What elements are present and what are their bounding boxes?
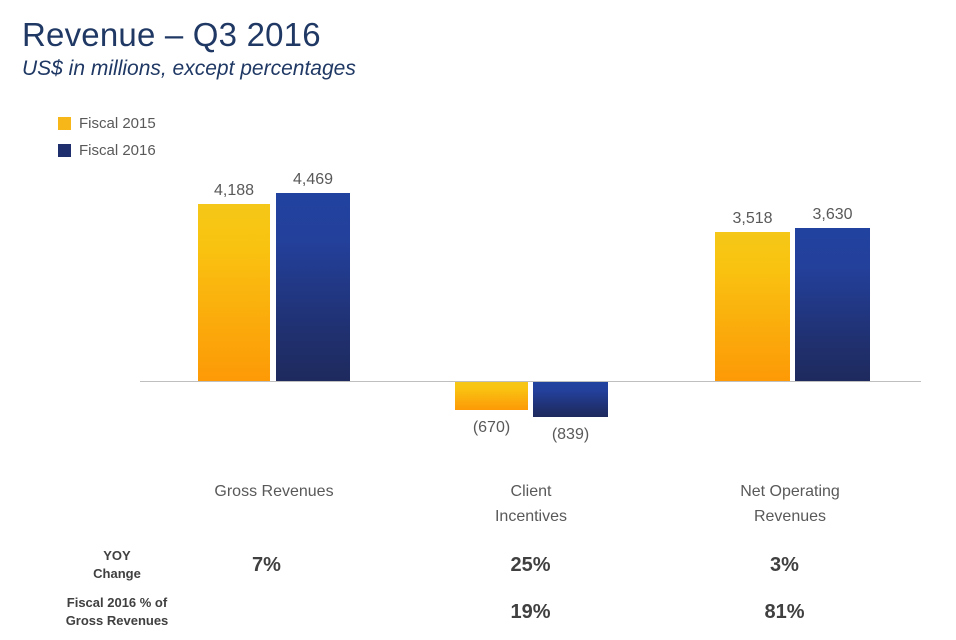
table-row-label-fiscal-2016-pct-of-gross-revenues: Fiscal 2016 % of Gross Revenues xyxy=(42,594,192,630)
bar-label-net-operating-revenues-fiscal-2015: 3,518 xyxy=(715,210,790,228)
bar-net-operating-revenues-fiscal-2015[interactable] xyxy=(715,232,790,381)
table-cell-yoy-change-net-operating-revenues: 3% xyxy=(722,554,847,577)
category-label-client-incentives: Client Incentives xyxy=(431,479,631,529)
table-cell-yoy-change-gross-revenues: 7% xyxy=(204,554,329,577)
table-cell-yoy-change-client-incentives: 25% xyxy=(468,554,593,577)
table-row-label-yoy-change: YOY Change xyxy=(57,547,177,583)
table-cell-fiscal-2016-pct-net-operating-revenues: 81% xyxy=(722,601,847,624)
category-label-gross-revenues: Gross Revenues xyxy=(174,479,374,504)
zero-axis-line xyxy=(140,381,921,382)
bar-label-gross-revenues-fiscal-2015: 4,188 xyxy=(198,182,270,200)
category-label-net-operating-revenues: Net Operating Revenues xyxy=(690,479,890,529)
bar-gross-revenues-fiscal-2015[interactable] xyxy=(198,204,270,381)
table-cell-fiscal-2016-pct-client-incentives: 19% xyxy=(468,601,593,624)
bar-gross-revenues-fiscal-2016[interactable] xyxy=(276,193,350,381)
bar-label-client-incentives-fiscal-2016: (839) xyxy=(533,426,608,444)
bar-label-net-operating-revenues-fiscal-2016: 3,630 xyxy=(795,206,870,224)
bar-chart-plot-area: 4,188 4,469 (670) (839) 3,518 3,630 Gros… xyxy=(0,0,956,640)
bar-client-incentives-fiscal-2016[interactable] xyxy=(533,382,608,417)
bar-net-operating-revenues-fiscal-2016[interactable] xyxy=(795,228,870,381)
bar-client-incentives-fiscal-2015[interactable] xyxy=(455,382,528,410)
bar-label-gross-revenues-fiscal-2016: 4,469 xyxy=(276,171,350,189)
bar-label-client-incentives-fiscal-2015: (670) xyxy=(455,419,528,437)
